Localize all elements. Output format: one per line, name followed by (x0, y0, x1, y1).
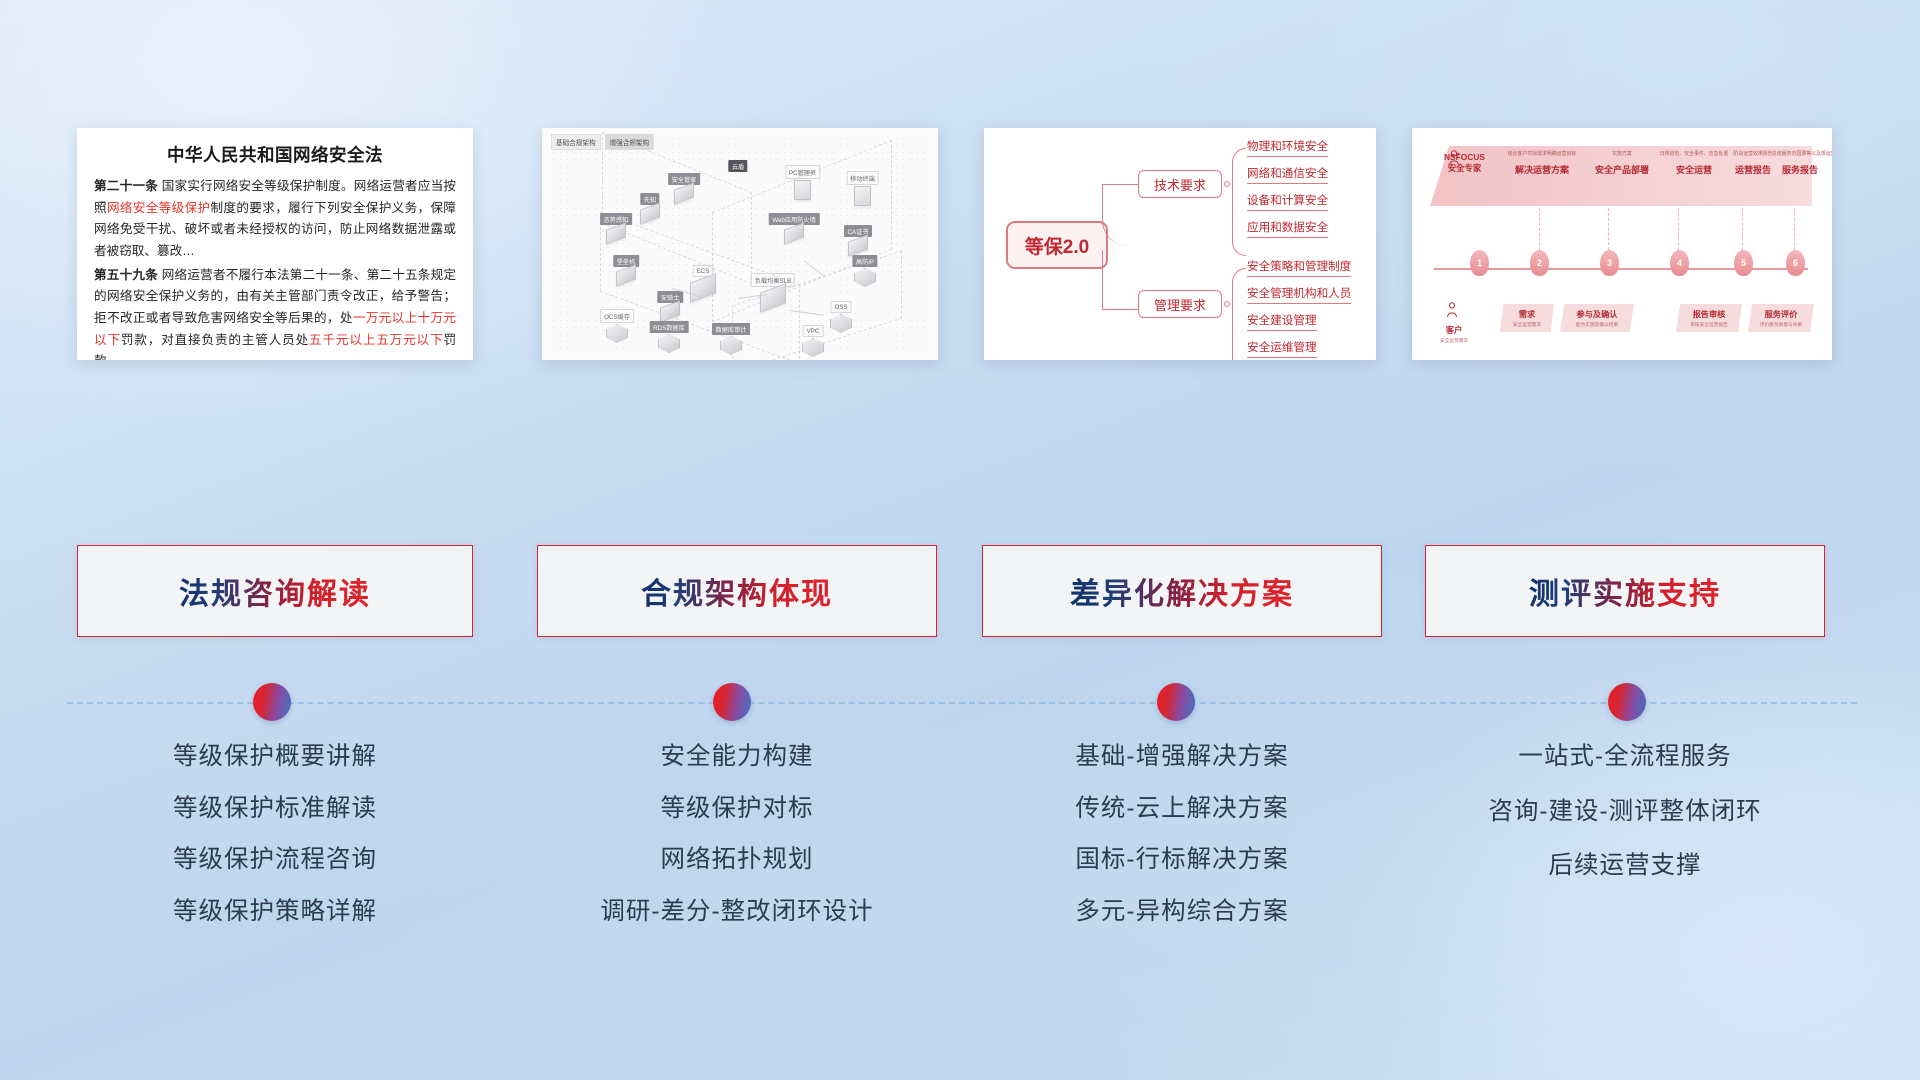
node-label-rds-database: RDS数据库 (650, 321, 689, 333)
pillar-title-architecture[interactable]: 合规架构体现 (537, 545, 937, 637)
timeline-dashed-axis (67, 702, 1857, 704)
node-rds-database: RDS数据库 (658, 334, 680, 353)
bottom-tag-demand-sub: 安全运营需求 (1506, 322, 1548, 328)
node-label-load-balancer: 负载均衡SLB (751, 273, 795, 287)
mindmap-root: 等保2.0 (1006, 221, 1108, 269)
list-item: 咨询-建设-测评整体闭环 (1425, 800, 1825, 825)
node-label-ocs-cache: OCS缓存 (600, 309, 634, 323)
timeline-node-6[interactable]: 6 (1786, 250, 1805, 276)
list-item: 多元-异构综合方案 (982, 900, 1382, 925)
timeline-node-3[interactable]: 3 (1600, 250, 1619, 276)
mindmap-leaf-ops-mgmt: 安全运维管理 (1247, 339, 1317, 358)
node-icon-vpc (802, 338, 824, 357)
bottom-tag-participate-title: 参与及确认 (1566, 308, 1628, 320)
list-item: 调研-差分-整改闭环设计 (537, 900, 937, 925)
node-label-mobile-terminal: 移动终端 (846, 171, 879, 185)
card-nsfocus-timeline[interactable]: NSFOCUS 安全专家 结合客户实际需求明确运营目标 解决运营方案 实施方案 … (1412, 128, 1832, 360)
mindmap-leaf-app-data: 应用和数据安全 (1247, 219, 1328, 238)
list-item: 等级保护对标 (537, 797, 937, 822)
list-item: 传统-云上解决方案 (982, 797, 1382, 822)
list-item: 后续运营支撑 (1425, 854, 1825, 879)
node-label-oss: OSS (830, 301, 851, 313)
banner-step-5: 总结服务范围要等以及现运营效果 服务报告 (1772, 152, 1828, 176)
article-59-highlight-2: 五千元以上五万元以下 (309, 333, 443, 347)
banner-step-5-main: 服务报告 (1772, 163, 1828, 176)
expert-name: NSFOCUS (1444, 152, 1485, 163)
node-ca-certificate: CA证书 (848, 238, 868, 253)
pillar-title-regulation-label: 法规咨询解读 (179, 569, 371, 613)
bottom-tag-evaluate-title: 服务评价 (1754, 308, 1808, 320)
law-text-body: 中华人民共和国网络安全法 第二十一条 国家实行网络安全等级保护制度。网络运营者应… (77, 128, 473, 360)
card-mindmap[interactable]: 等保2.0 技术要求 物理和环境安全 网络和通信安全 设备和计算安全 应用和数据… (984, 128, 1376, 360)
pillar-title-assessment[interactable]: 测评实施支持 (1425, 545, 1825, 637)
customer-sub: 安全运营需求 (1440, 338, 1468, 344)
timeline-node-2[interactable]: 2 (1530, 250, 1549, 276)
timeline-marker-3[interactable] (1157, 683, 1195, 721)
pillar-title-architecture-label: 合规架构体现 (641, 569, 833, 613)
pillar-detail-row: 等级保护概要讲解 等级保护标准解读 等级保护流程咨询 等级保护策略详解 安全能力… (0, 745, 1920, 1045)
customer-label: 客户 安全运营需求 (1440, 306, 1468, 344)
node-ocs-cache: OCS缓存 (606, 324, 628, 343)
article-59-label: 第五十九条 (94, 268, 158, 282)
node-label-db-audit: 数据库审计 (712, 323, 750, 335)
banner-step-5-sub: 总结服务范围要等以及现运营效果 (1772, 152, 1828, 158)
timeline-marker-2[interactable] (713, 683, 751, 721)
architecture-canvas: 基础合规架构 增强合规架构 云盾 安全管家 先知 (542, 128, 938, 360)
law-article-59: 第五十九条 网络运营者不履行本法第二十一条、第二十五条规定的网络安全保护义务的，… (94, 265, 456, 360)
list-item: 安全能力构建 (537, 745, 937, 770)
node-pc-admin: PC管理员 (794, 180, 811, 200)
node-label-waf: Web应用防火墙 (769, 213, 820, 225)
banner-step-1-sub: 结合客户实际需求明确运营目标 (1500, 152, 1584, 158)
article-21-highlight: 网络安全等级保护 (107, 201, 211, 215)
node-icon-pc-admin (794, 180, 811, 200)
node-icon-oss (830, 314, 852, 333)
mindmap-canvas: 等保2.0 技术要求 物理和环境安全 网络和通信安全 设备和计算安全 应用和数据… (984, 128, 1376, 360)
node-bastion-host: 堡垒机 (616, 268, 636, 283)
node-label-situational-awareness: 态势感知 (600, 213, 632, 225)
mindmap-leaf-physical-env: 物理和环境安全 (1247, 138, 1328, 157)
node-load-balancer: 负载均衡SLB (760, 288, 786, 308)
customer-name: 客户 (1440, 324, 1468, 336)
node-security-butler: 安全管家 (674, 186, 694, 201)
mindmap-branch-management[interactable]: 管理要求 (1138, 290, 1222, 318)
node-label-security-butler: 安全管家 (668, 173, 700, 185)
node-mobile-terminal: 移动终端 (854, 186, 871, 206)
bottom-tag-demand-title: 需求 (1506, 308, 1548, 320)
pillar-items-regulation: 等级保护概要讲解 等级保护标准解读 等级保护流程咨询 等级保护策略详解 (77, 745, 473, 951)
banner-step-3-sub: 日常巡检、安全事件、应急处置 (1658, 152, 1730, 158)
banner-step-2-sub: 实施方案 (1584, 152, 1660, 158)
mindmap-branch-technical[interactable]: 技术要求 (1138, 170, 1222, 198)
pillar-items-architecture: 安全能力构建 等级保护对标 网络拓扑规划 调研-差分-整改闭环设计 (537, 745, 937, 951)
node-db-audit: 数据库审计 (720, 336, 742, 355)
node-icon-db-audit (720, 336, 742, 355)
mindmap-leaf-policy-system: 安全策略和管理制度 (1247, 258, 1351, 277)
bottom-tag-review-sub: 审核安全运营报告 (1682, 322, 1736, 328)
list-item: 等级保护概要讲解 (77, 745, 473, 770)
bottom-tag-participate-sub: 配合实施及确认结果 (1566, 322, 1628, 328)
expert-role: 安全专家 (1444, 163, 1485, 174)
list-item: 国标-行标解决方案 (982, 848, 1382, 873)
node-label-pc-admin: PC管理员 (785, 165, 820, 179)
timeline-node-5[interactable]: 5 (1734, 250, 1753, 276)
node-xianzhi: 先知 (640, 206, 660, 221)
list-item: 一站式-全流程服务 (1425, 745, 1825, 770)
law-article-21: 第二十一条 国家实行网络安全等级保护制度。网络运营者应当按照网络安全等级保护制度… (94, 176, 456, 263)
node-icon-mobile-terminal (854, 186, 871, 206)
pillar-title-row: 法规咨询解读 合规架构体现 差异化解决方案 测评实施支持 (0, 545, 1920, 650)
mindmap-leaf-device-compute: 设备和计算安全 (1247, 192, 1328, 211)
article-21-label: 第二十一条 (94, 179, 158, 193)
pillar-items-solution: 基础-增强解决方案 传统-云上解决方案 国标-行标解决方案 多元-异构综合方案 (982, 745, 1382, 951)
pillar-title-assessment-label: 测评实施支持 (1529, 569, 1721, 613)
mindmap-leaf-construction-mgmt: 安全建设管理 (1247, 312, 1317, 331)
list-item: 网络拓扑规划 (537, 848, 937, 873)
pillar-title-solution-label: 差异化解决方案 (1070, 569, 1294, 613)
banner-step-3: 日常巡检、安全事件、应急处置 安全运营 (1658, 152, 1730, 176)
list-item: 基础-增强解决方案 (982, 745, 1382, 770)
banner-step-1-main: 解决运营方案 (1500, 163, 1584, 176)
list-item: 等级保护流程咨询 (77, 848, 473, 873)
node-waf: Web应用防火墙 (784, 226, 804, 241)
branch-dot-technical (1224, 181, 1230, 187)
node-label-vpc: VPC (803, 325, 824, 337)
mindmap-leaf-network-comm: 网络和通信安全 (1247, 165, 1328, 184)
node-vpc: VPC (802, 338, 824, 357)
timeline-node-1[interactable]: 1 (1470, 250, 1489, 276)
law-title: 中华人民共和国网络安全法 (94, 142, 456, 167)
bottom-tag-demand: 需求 安全运营需求 (1500, 304, 1554, 332)
card-law-document[interactable]: 中华人民共和国网络安全法 第二十一条 国家实行网络安全等级保护制度。网络运营者应… (77, 128, 473, 360)
list-item: 等级保护策略详解 (77, 900, 473, 925)
timeline-node-4[interactable]: 4 (1670, 250, 1689, 276)
list-item: 等级保护标准解读 (77, 797, 473, 822)
timeline-marker-4[interactable] (1608, 683, 1646, 721)
bottom-tag-review-title: 报告审核 (1682, 308, 1736, 320)
branch-dot-management (1224, 301, 1230, 307)
node-anqishi: 安骑士 (660, 304, 680, 319)
pillar-title-regulation[interactable]: 法规咨询解读 (77, 545, 473, 637)
bottom-tag-participate: 参与及确认 配合实施及确认结果 (1560, 304, 1634, 332)
bottom-tag-evaluate-sub: 评价服务质量与效果 (1754, 322, 1808, 328)
mgmt-leaf-curve-down (1232, 304, 1246, 360)
node-oss: OSS (830, 314, 852, 333)
banner-step-2: 实施方案 安全产品部署 (1584, 152, 1660, 176)
bottom-tag-evaluate: 服务评价 评价服务质量与效果 (1748, 304, 1814, 332)
timeline-marker-1[interactable] (253, 683, 291, 721)
tab-basic-framework[interactable]: 基础合规架构 (551, 134, 601, 150)
node-label-cloud-shield: 云盾 (728, 160, 747, 172)
banner-step-3-main: 安全运营 (1658, 163, 1730, 176)
node-anti-ddos-ip: 高防IP (854, 268, 876, 287)
nsfocus-canvas: NSFOCUS 安全专家 结合客户实际需求明确运营目标 解决运营方案 实施方案 … (1412, 128, 1832, 360)
node-icon-rds-database (658, 334, 680, 353)
node-icon-anti-ddos-ip (854, 268, 876, 287)
mindmap-leaf-org-personnel: 安全管理机构和人员 (1247, 285, 1351, 304)
card-architecture-diagram[interactable]: 基础合规架构 增强合规架构 云盾 安全管家 先知 (542, 128, 938, 360)
bottom-tag-review: 报告审核 审核安全运营报告 (1676, 304, 1742, 332)
pillar-title-solution[interactable]: 差异化解决方案 (982, 545, 1382, 637)
node-situational-awareness: 态势感知 (606, 226, 626, 241)
banner-step-1: 结合客户实际需求明确运营目标 解决运营方案 (1500, 152, 1584, 176)
node-icon-ocs-cache (606, 324, 628, 343)
article-59-text-b: 罚款，对直接负责的主管人员处 (121, 333, 309, 347)
slide-canvas: 中华人民共和国网络安全法 第二十一条 国家实行网络安全等级保护制度。网络运营者应… (0, 0, 1920, 1080)
banner-step-2-main: 安全产品部署 (1584, 163, 1660, 176)
node-label-anti-ddos-ip: 高防IP (852, 255, 877, 267)
expert-label: NSFOCUS 安全专家 (1444, 152, 1485, 173)
card-row: 中华人民共和国网络安全法 第二十一条 国家实行网络安全等级保护制度。网络运营者应… (0, 128, 1920, 363)
tech-leaf-curve-down (1232, 184, 1246, 256)
pillar-items-assessment: 一站式-全流程服务 咨询-建设-测评整体闭环 后续运营支撑 (1425, 745, 1825, 909)
